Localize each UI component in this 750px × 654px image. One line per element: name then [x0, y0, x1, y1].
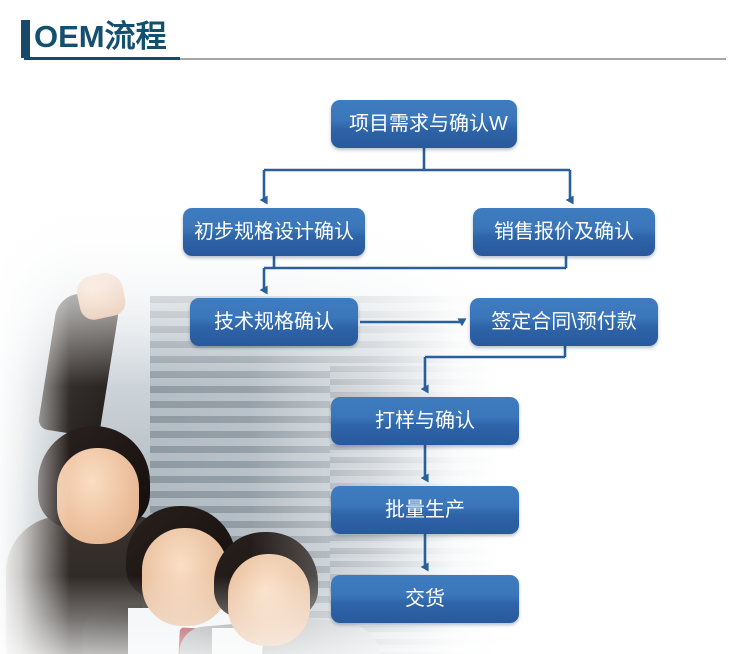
page-title: OEM流程 — [34, 17, 167, 57]
oem-process-page: OEM流程 — [0, 0, 750, 654]
flow-node-project-requirements[interactable]: 项目需求与确认W — [331, 100, 517, 148]
flow-node-mass-production[interactable]: 批量生产 — [331, 486, 519, 534]
flow-node-label: 签定合同\预付款 — [481, 311, 647, 333]
flow-node-label: 打样与确认 — [365, 410, 485, 432]
flow-node-label: 批量生产 — [375, 499, 475, 521]
page-header: OEM流程 — [0, 0, 750, 72]
flow-node-label: 项目需求与确认W — [349, 113, 508, 135]
process-flowchart: 项目需求与确认W 初步规格设计确认 销售报价及确认 技术规格确认 签定合同\预付… — [0, 0, 750, 654]
flow-node-contract-prepayment[interactable]: 签定合同\预付款 — [470, 298, 658, 346]
flow-node-label: 初步规格设计确认 — [184, 221, 364, 243]
flow-node-delivery[interactable]: 交货 — [331, 575, 519, 623]
flow-node-technical-spec[interactable]: 技术规格确认 — [190, 298, 358, 346]
flow-node-preliminary-spec[interactable]: 初步规格设计确认 — [183, 208, 365, 256]
title-divider-blue — [24, 57, 180, 60]
flow-node-sales-quotation[interactable]: 销售报价及确认 — [473, 208, 655, 256]
flow-node-label: 销售报价及确认 — [484, 221, 644, 243]
flow-node-label: 技术规格确认 — [204, 311, 344, 333]
flow-node-label: 交货 — [395, 588, 455, 610]
flow-node-sampling-confirmation[interactable]: 打样与确认 — [331, 397, 519, 445]
title-accent-bar — [21, 20, 30, 58]
